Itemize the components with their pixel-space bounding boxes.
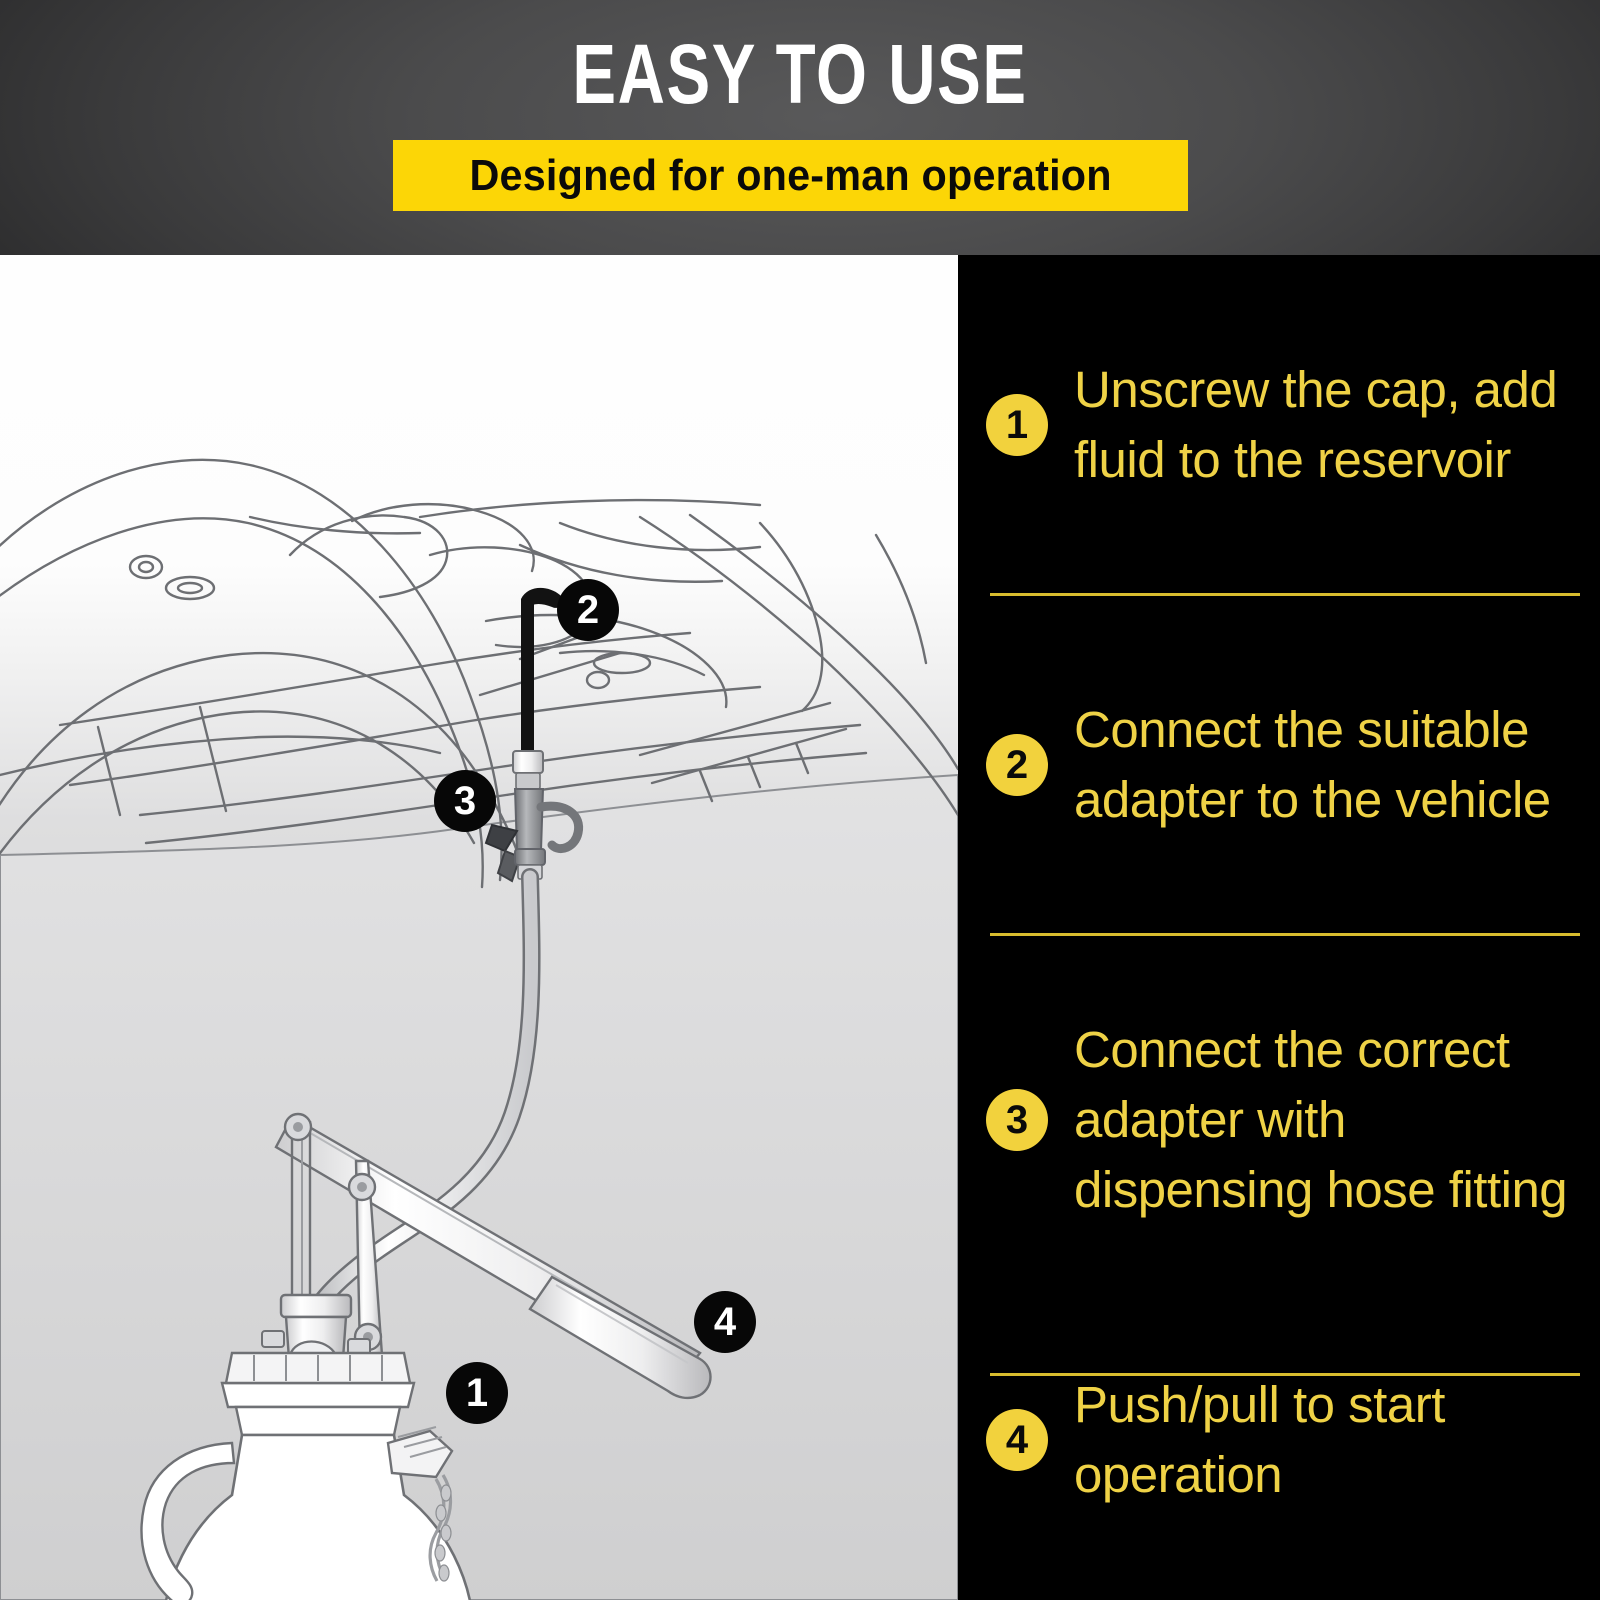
step-divider-1 — [990, 593, 1580, 596]
step-number-badge-3: 3 — [986, 1089, 1048, 1151]
header-subtitle-label: Designed for one-man operation — [469, 151, 1111, 201]
step-item-2: 2 Connect the suitable adapter to the ve… — [958, 655, 1600, 875]
callout-marker-3: 3 — [434, 770, 496, 832]
step-text-4: Push/pull to start operation — [1074, 1370, 1574, 1510]
step-number-badge-1: 1 — [986, 394, 1048, 456]
step-number-badge-2: 2 — [986, 734, 1048, 796]
header-banner: EASY TO USE Designed for one-man operati… — [0, 0, 1600, 255]
callout-marker-2: 2 — [557, 579, 619, 641]
header-subtitle-badge: Designed for one-man operation — [393, 140, 1188, 211]
step-number-badge-4: 4 — [986, 1409, 1048, 1471]
callout-marker-1: 1 — [446, 1362, 508, 1424]
infographic-page: EASY TO USE Designed for one-man operati… — [0, 0, 1600, 1600]
step-divider-2 — [990, 933, 1580, 936]
product-illustration: 2 3 1 4 — [0, 255, 958, 1600]
step-text-3: Connect the correct adapter with dispens… — [1074, 1015, 1574, 1225]
step-text-1: Unscrew the cap, add fluid to the reserv… — [1074, 355, 1574, 495]
step-item-3: 3 Connect the correct adapter with dispe… — [958, 975, 1600, 1265]
step-item-1: 1 Unscrew the cap, add fluid to the rese… — [958, 315, 1600, 535]
page-title: EASY TO USE — [176, 26, 1424, 122]
step-item-4: 4 Push/pull to start operation — [958, 1365, 1600, 1515]
step-text-2: Connect the suitable adapter to the vehi… — [1074, 695, 1574, 835]
instruction-steps-panel: 1 Unscrew the cap, add fluid to the rese… — [958, 255, 1600, 1600]
callout-marker-4: 4 — [694, 1291, 756, 1353]
